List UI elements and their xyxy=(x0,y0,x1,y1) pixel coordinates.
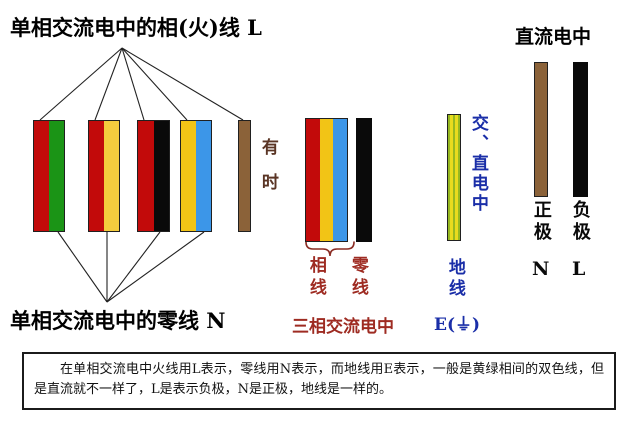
page-title-top: 单相交流电中的相(火)线 L xyxy=(10,12,262,42)
three-phase-caption: 三相交流电中 xyxy=(292,312,394,337)
diagram-canvas: 单相交流电中的相(火)线 L 单相交流电中的零线 N 直流电中 有时 相线 零线 xyxy=(0,0,638,426)
dc-negative-bar xyxy=(573,62,588,197)
wire-pair-red-yellow xyxy=(88,120,120,232)
note-text: 在单相交流电中火线用L表示，零线用N表示，而地线用E表示，一般是黄绿相间的双色线… xyxy=(34,360,604,400)
ground-stripe-green xyxy=(458,115,460,240)
wire-segment-yellow xyxy=(181,121,196,231)
ground-wire-label: 地线 xyxy=(445,258,463,300)
wire-pair-red-green xyxy=(33,120,65,232)
wire-segment-yellow xyxy=(104,121,119,231)
ground-wire-bar xyxy=(447,114,461,241)
dc-positive-letter: N xyxy=(532,258,549,280)
phase-wire-label: 相线 xyxy=(306,256,324,300)
wire-segment-black xyxy=(154,121,170,231)
ac-dc-label: 交、直电中 xyxy=(468,114,486,214)
three-phase-neutral-bar xyxy=(356,118,372,242)
dc-positive-label: 正极 xyxy=(531,200,550,244)
wire-segment-red xyxy=(138,121,154,231)
phase-segment-blue xyxy=(333,119,347,241)
dc-section-title: 直流电中 xyxy=(515,22,591,49)
wire-segment-green xyxy=(49,121,64,231)
wire-segment-blue xyxy=(196,121,211,231)
phase-segment-red xyxy=(306,119,320,241)
wire-single-brown xyxy=(238,120,251,232)
note-box: 在单相交流电中火线用L表示，零线用N表示，而地线用E表示，一般是黄绿相间的双色线… xyxy=(22,352,616,410)
wire-segment-red xyxy=(89,121,104,231)
page-title-bottom: 单相交流电中的零线 N xyxy=(10,305,226,335)
neutral-segment-black xyxy=(357,119,371,241)
neutral-wire-label: 零线 xyxy=(348,256,366,300)
dc-negative-label: 负极 xyxy=(570,200,589,244)
wire-segment-brown xyxy=(239,121,250,231)
dc-positive-bar xyxy=(534,62,548,197)
wire-pair-yellow-blue xyxy=(180,120,212,232)
ground-symbol-label: E(⏚) xyxy=(434,310,480,335)
wire-pair-red-black xyxy=(137,120,170,232)
wire-segment-red xyxy=(34,121,49,231)
phase-segment-yellow xyxy=(320,119,334,241)
dc-segment-black xyxy=(574,63,587,196)
three-phase-bar-group xyxy=(305,118,348,242)
dc-segment-brown xyxy=(535,63,547,196)
dc-negative-letter: L xyxy=(572,258,585,280)
sometimes-label: 有时 xyxy=(258,138,276,208)
